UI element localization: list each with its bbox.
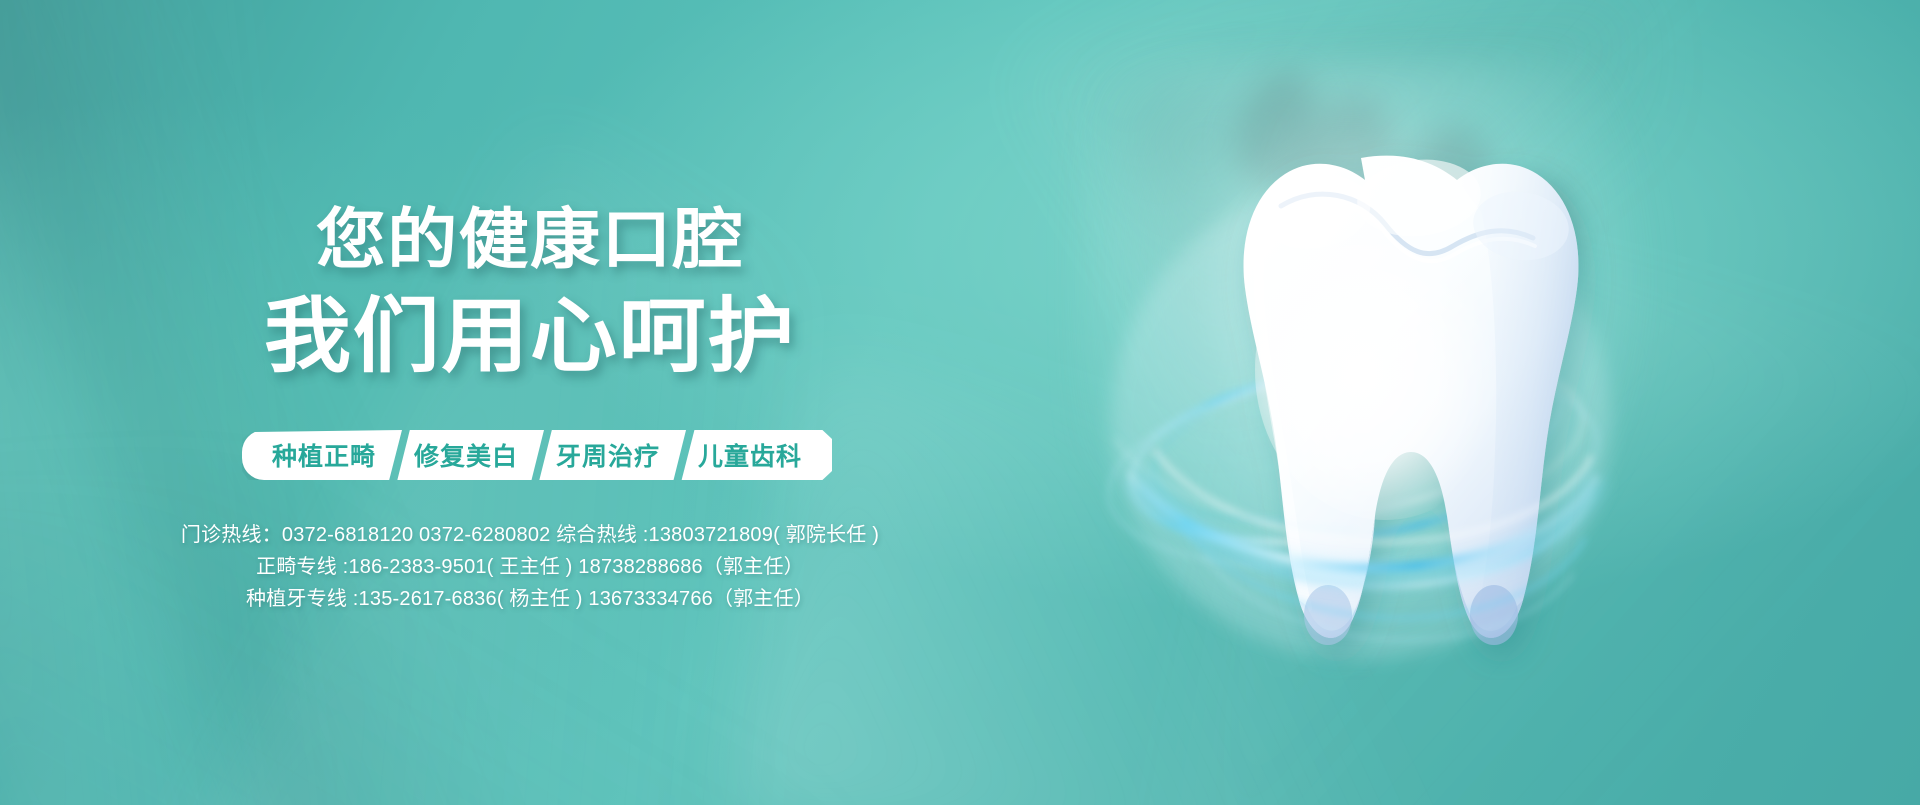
text-content-block: 您的健康口腔 我们用心呵护 种植正畸 修复美白 牙周治疗 儿童齿科 门诊热线：0… (0, 0, 1060, 805)
contact-line-orthodontics-hotline: 正畸专线 :186-2383-9501( 王主任 ) 18738288686（郭… (0, 550, 1060, 579)
service-tag-label: 牙周治疗 (556, 437, 660, 473)
service-tag-implant-orthodontics[interactable]: 种植正畸 (242, 430, 402, 480)
molar-tooth-illustration (1085, 120, 1645, 680)
dental-clinic-banner: 您的健康口腔 我们用心呵护 种植正畸 修复美白 牙周治疗 儿童齿科 门诊热线：0… (0, 0, 1920, 805)
service-tag-label: 种植正畸 (272, 437, 376, 473)
headline-line-2: 我们用心呵护 (0, 296, 1092, 378)
service-tag-label: 修复美白 (414, 437, 518, 473)
service-tag-periodontal-treatment[interactable]: 牙周治疗 (530, 430, 686, 480)
service-tag-restoration-whitening[interactable]: 修复美白 (388, 430, 544, 480)
service-tag-pediatric-dentistry[interactable]: 儿童齿科 (672, 430, 832, 480)
contact-line-implant-hotline: 种植牙专线 :135-2617-6836( 杨主任 ) 13673334766（… (0, 582, 1060, 611)
service-tag-label: 儿童齿科 (698, 437, 802, 473)
contact-line-clinic-hotline: 门诊热线：0372-6818120 0372-6280802 综合热线 :138… (0, 518, 1060, 547)
service-tag-list: 种植正畸 修复美白 牙周治疗 儿童齿科 (0, 430, 1060, 480)
headline-line-1: 您的健康口腔 (0, 206, 1092, 272)
tooth-svg (1085, 120, 1645, 680)
